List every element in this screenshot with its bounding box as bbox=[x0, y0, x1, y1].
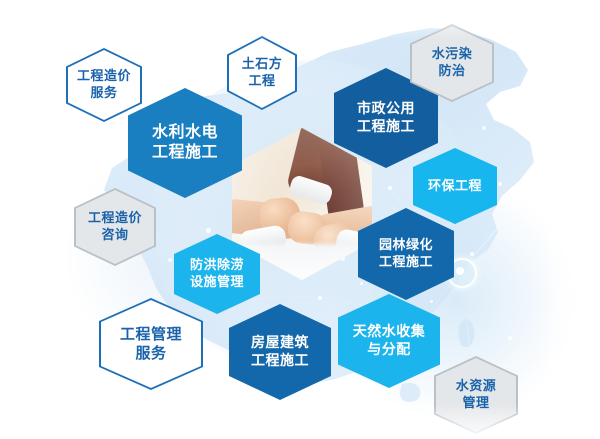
sparkle-dot bbox=[318, 296, 322, 300]
hexagon-label: 工程管理 服务 bbox=[120, 325, 182, 363]
infographic-canvas: 工程造价 服务土石方 工程水利水电 工程施工市政公用 工程施工水污染 防治环保工… bbox=[0, 0, 600, 439]
hexagon-label: 工程造价 服务 bbox=[77, 68, 131, 101]
hexagon-label: 水资源 管理 bbox=[456, 378, 497, 411]
hexagon-tianranshui-shouji-yu-fenpei[interactable]: 天然水收集 与分配 bbox=[338, 294, 440, 388]
hexagon-label: 房屋建筑 工程施工 bbox=[251, 334, 309, 370]
hexagon-gongcheng-zaojia-zixun[interactable]: 工程造价 咨询 bbox=[74, 188, 156, 266]
hexagon-label: 市政公用 工程施工 bbox=[357, 100, 415, 136]
hexagon-shuiwuran-fangzhi[interactable]: 水污染 防治 bbox=[410, 24, 494, 102]
sparkle-dot bbox=[206, 228, 211, 233]
hexagon-label: 环保工程 bbox=[428, 178, 482, 195]
hexagon-gongcheng-guanli-fuwu[interactable]: 工程管理 服务 bbox=[99, 298, 203, 390]
hexagon-label: 防洪除涝 设施管理 bbox=[190, 257, 244, 290]
sparkle-dot bbox=[498, 182, 502, 186]
sparkle-dot bbox=[482, 126, 486, 130]
hexagon-shuiziyuan-guanli[interactable]: 水资源 管理 bbox=[434, 356, 518, 434]
sparkle-dot bbox=[388, 186, 392, 190]
sparkle-dot bbox=[508, 336, 512, 340]
hexagon-fangwu-jianzhu-gongcheng-shigong[interactable]: 房屋建筑 工程施工 bbox=[229, 304, 331, 400]
hexagon-label: 园林绿化 工程施工 bbox=[379, 237, 433, 270]
hexagon-label: 工程造价 咨询 bbox=[88, 210, 142, 243]
hexagon-label: 土石方 工程 bbox=[242, 56, 283, 89]
hexagon-shuili-shuidian-gongcheng-shigong[interactable]: 水利水电 工程施工 bbox=[128, 88, 242, 198]
sparkle-dot bbox=[168, 258, 172, 262]
hexagon-label: 水利水电 工程施工 bbox=[152, 123, 218, 164]
hexagon-yuanlin-lvhua-gongcheng-shigong[interactable]: 园林绿化 工程施工 bbox=[358, 208, 454, 300]
hexagon-label: 天然水收集 与分配 bbox=[353, 323, 426, 359]
hexagon-label: 水污染 防治 bbox=[432, 46, 473, 79]
sparkle-dot bbox=[470, 252, 474, 256]
